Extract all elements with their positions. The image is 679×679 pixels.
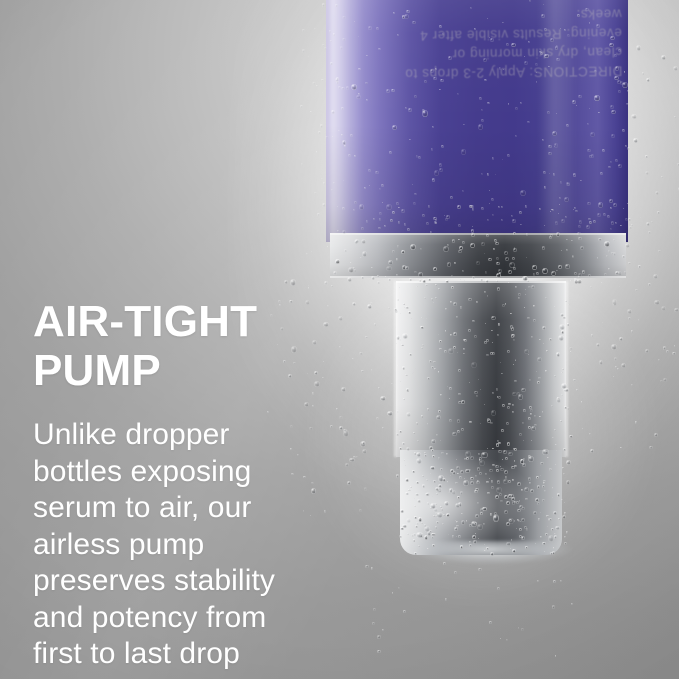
water-droplet (638, 265, 640, 268)
water-droplet (449, 398, 450, 399)
water-droplet (560, 580, 562, 582)
water-droplet (409, 353, 412, 356)
water-droplet (393, 12, 395, 14)
water-droplet (588, 218, 591, 221)
water-droplet (610, 228, 612, 230)
water-droplet (546, 515, 549, 517)
water-droplet (324, 281, 328, 285)
water-droplet (373, 608, 376, 611)
water-droplet (511, 334, 514, 338)
water-droplet (485, 271, 487, 273)
water-droplet (597, 213, 601, 217)
water-droplet (610, 161, 612, 163)
water-droplet (608, 166, 611, 169)
water-droplet (361, 276, 364, 279)
water-droplet (481, 109, 483, 111)
water-droplet (420, 326, 423, 329)
water-droplet (424, 526, 430, 532)
water-droplet (527, 280, 529, 282)
water-droplet (489, 469, 493, 472)
water-droplet (573, 173, 576, 176)
water-droplet (544, 225, 545, 226)
water-droplet (396, 258, 398, 260)
water-droplet (354, 155, 356, 157)
water-droplet (433, 302, 434, 303)
water-droplet (336, 408, 338, 410)
water-droplet (544, 54, 548, 58)
water-droplet (444, 501, 449, 506)
water-droplet (611, 221, 614, 225)
water-droplet (335, 78, 339, 82)
water-droplet (534, 415, 536, 417)
water-droplet (555, 655, 556, 656)
water-droplet (432, 178, 435, 181)
water-droplet (366, 220, 368, 222)
water-droplet (564, 512, 567, 515)
water-droplet (314, 371, 318, 375)
water-droplet (322, 3, 326, 6)
water-droplet (562, 316, 566, 320)
water-droplet (396, 433, 399, 436)
water-droplet (457, 205, 461, 209)
water-droplet (478, 453, 480, 455)
water-droplet (323, 322, 328, 327)
water-droplet (507, 350, 510, 353)
water-droplet (513, 248, 517, 252)
water-droplet (407, 533, 409, 535)
water-droplet (416, 532, 422, 538)
water-droplet (405, 306, 408, 310)
water-droplet (558, 213, 559, 214)
water-droplet (487, 173, 490, 176)
water-droplet (604, 273, 607, 276)
water-droplet (497, 587, 500, 590)
water-droplet (384, 225, 386, 227)
water-droplet (631, 114, 637, 120)
water-droplet (505, 303, 506, 304)
water-droplet (451, 275, 453, 277)
water-droplet (611, 110, 616, 115)
water-droplet (504, 495, 508, 499)
water-droplet (613, 304, 614, 306)
water-droplet (388, 278, 391, 281)
water-droplet (483, 58, 487, 62)
water-droplet (510, 325, 513, 328)
water-droplet (430, 466, 434, 471)
water-droplet (526, 257, 527, 258)
water-droplet (461, 400, 464, 404)
water-droplet (450, 334, 452, 336)
water-droplet (419, 279, 421, 282)
water-droplet (614, 76, 619, 81)
water-droplet (457, 93, 459, 95)
water-droplet (591, 334, 594, 336)
water-droplet (331, 110, 335, 114)
water-droplet (412, 184, 413, 185)
water-droplet (562, 368, 564, 370)
water-droplet (578, 237, 581, 241)
water-droplet (468, 298, 472, 302)
water-droplet (405, 478, 409, 482)
water-droplet (519, 505, 524, 509)
water-droplet (613, 239, 615, 241)
water-droplet (563, 448, 566, 451)
water-droplet (472, 276, 475, 279)
water-droplet (618, 49, 621, 52)
water-droplet (539, 416, 540, 417)
water-droplet (553, 547, 554, 548)
water-droplet (459, 476, 462, 479)
water-droplet (345, 463, 349, 466)
water-droplet (543, 480, 545, 482)
water-droplet (470, 481, 474, 485)
water-droplet (537, 357, 541, 362)
water-droplet (486, 547, 489, 550)
water-droplet (424, 454, 427, 457)
water-droplet (428, 278, 431, 281)
water-droplet (649, 446, 652, 449)
water-droplet (387, 411, 393, 416)
water-droplet (517, 509, 521, 513)
water-droplet (344, 145, 346, 146)
water-droplet (473, 540, 476, 543)
water-droplet (622, 82, 628, 88)
water-droplet (552, 497, 553, 498)
water-droplet (537, 485, 541, 489)
water-droplet (417, 499, 421, 503)
water-droplet (343, 430, 349, 437)
water-droplet (427, 536, 428, 537)
water-droplet (552, 487, 553, 488)
water-droplet (500, 500, 503, 502)
water-droplet (439, 348, 442, 350)
water-droplet (412, 21, 416, 25)
water-droplet (633, 138, 638, 143)
water-droplet (342, 38, 346, 42)
water-droplet (397, 365, 399, 367)
water-droplet (365, 565, 369, 569)
water-droplet (471, 362, 477, 368)
water-droplet (332, 136, 334, 137)
water-droplet (368, 26, 371, 30)
water-droplet (382, 629, 384, 631)
water-droplet (452, 535, 454, 537)
water-droplet (498, 450, 502, 454)
water-droplet (314, 381, 320, 387)
water-droplet (496, 262, 500, 266)
water-droplet (566, 462, 568, 464)
water-droplet (515, 107, 518, 110)
water-droplet (476, 301, 478, 303)
water-droplet (495, 174, 496, 175)
water-droplet (408, 311, 411, 314)
water-droplet (507, 442, 510, 446)
water-droplet (475, 514, 479, 518)
water-droplet (375, 171, 379, 175)
water-droplet (490, 513, 493, 516)
water-droplet (443, 562, 446, 565)
water-droplet (589, 433, 591, 435)
water-droplet (327, 305, 329, 307)
water-droplet (399, 287, 400, 288)
water-droplet (414, 271, 416, 273)
water-droplet (526, 528, 528, 530)
water-droplet (424, 297, 426, 299)
water-droplet (646, 78, 650, 83)
water-droplet (470, 456, 474, 460)
water-droplet (401, 209, 405, 212)
water-droplet (426, 492, 430, 496)
water-droplet (631, 384, 633, 386)
water-droplet (456, 536, 457, 537)
water-droplet (509, 262, 515, 268)
water-droplet (519, 211, 522, 214)
water-droplet (372, 622, 375, 625)
water-droplet (523, 409, 525, 412)
water-droplet (347, 481, 351, 485)
water-droplet (522, 422, 524, 424)
water-droplet (402, 366, 405, 369)
water-droplet (562, 515, 567, 520)
water-droplet (448, 348, 454, 355)
water-droplet (402, 442, 405, 445)
water-droplet (400, 313, 401, 314)
water-droplet (621, 363, 626, 368)
water-droplet (325, 136, 328, 139)
water-droplet (501, 219, 503, 221)
water-droplet (646, 222, 650, 226)
water-droplet (399, 338, 401, 340)
water-droplet (389, 151, 392, 154)
water-droplet (497, 480, 501, 484)
water-droplet (531, 336, 533, 338)
water-droplet (518, 520, 520, 522)
water-droplet (441, 508, 444, 511)
water-droplet (506, 43, 509, 46)
water-droplet (471, 402, 472, 403)
water-droplet (587, 149, 591, 152)
water-droplet (499, 67, 501, 70)
water-droplet (366, 55, 368, 57)
water-droplet (361, 227, 364, 230)
water-droplet (440, 440, 441, 441)
water-droplet (341, 387, 345, 392)
water-droplet (508, 452, 513, 457)
water-droplet (474, 335, 477, 338)
water-droplet (566, 124, 569, 126)
water-droplet (549, 468, 552, 471)
water-droplet (330, 40, 332, 42)
water-droplet (446, 453, 448, 455)
water-droplet (520, 190, 526, 196)
water-droplet (342, 207, 345, 210)
water-droplet (412, 470, 415, 473)
water-droplet (549, 518, 551, 520)
water-droplet (453, 332, 457, 336)
water-droplet (512, 404, 514, 406)
water-droplet (624, 71, 625, 73)
water-droplet (674, 308, 678, 312)
water-droplet (433, 267, 437, 271)
water-droplet (485, 323, 486, 324)
water-droplet (438, 410, 442, 413)
water-droplet (425, 284, 428, 287)
water-droplet (559, 204, 560, 205)
water-droplet (508, 282, 509, 284)
water-droplet (617, 271, 622, 276)
water-droplet (518, 293, 521, 296)
water-droplet (430, 503, 436, 508)
water-droplet (545, 370, 546, 371)
water-droplet (451, 490, 456, 495)
water-droplet (661, 176, 663, 178)
water-droplet (442, 33, 444, 35)
water-droplet (505, 257, 509, 261)
water-droplet (344, 249, 347, 252)
water-droplet (458, 535, 461, 538)
water-droplet (530, 413, 532, 415)
water-droplet (365, 82, 368, 85)
water-droplet (342, 16, 345, 19)
water-droplet (497, 440, 499, 442)
water-droplet (627, 309, 633, 314)
water-droplet (654, 433, 658, 437)
water-droplet (661, 55, 666, 60)
water-droplet (399, 447, 402, 450)
water-droplet (456, 459, 457, 460)
water-droplet (426, 479, 427, 481)
page-title: AIR-TIGHT PUMP (33, 297, 301, 395)
water-droplet (590, 132, 595, 137)
water-droplet (524, 307, 525, 308)
water-droplet (338, 316, 343, 321)
water-droplet (416, 481, 420, 485)
water-droplet (620, 225, 621, 226)
water-droplet (627, 90, 629, 92)
water-droplet (379, 212, 382, 215)
water-droplet (342, 140, 346, 144)
water-droplet (582, 270, 585, 274)
water-droplet (540, 536, 542, 538)
water-droplet (512, 411, 514, 413)
water-droplet (542, 485, 545, 488)
water-droplet (561, 330, 564, 333)
water-droplet (454, 262, 456, 264)
water-droplet (477, 467, 481, 471)
water-droplet (545, 533, 548, 536)
water-droplet (609, 43, 614, 47)
water-droplet (460, 306, 463, 309)
water-droplet (506, 501, 510, 505)
water-droplet (604, 241, 610, 247)
water-droplet (529, 482, 532, 484)
water-droplet (382, 427, 385, 430)
product-feature-image: DIRECTIONS: Apply 2-3 drops to clean, dr… (0, 0, 679, 679)
water-droplet (500, 468, 504, 472)
water-droplet (658, 250, 661, 253)
water-droplet (563, 473, 565, 475)
water-droplet (648, 231, 651, 234)
water-droplet (628, 317, 631, 320)
water-droplet (523, 440, 525, 441)
water-droplet (405, 465, 406, 466)
water-droplet (461, 520, 465, 525)
water-droplet (565, 264, 569, 269)
pump-stem (396, 281, 566, 457)
water-droplet (522, 463, 526, 467)
water-droplet (460, 470, 464, 474)
water-droplet (377, 650, 381, 653)
water-droplet (542, 326, 546, 330)
water-droplet (538, 377, 540, 379)
water-droplet (407, 390, 409, 392)
water-droplet (558, 265, 562, 268)
water-droplet (309, 427, 313, 431)
water-droplet (511, 497, 515, 501)
water-droplet (377, 281, 380, 284)
water-droplet (377, 635, 381, 638)
water-droplet (419, 517, 421, 519)
water-droplet (474, 28, 476, 30)
water-droplet (622, 129, 625, 132)
water-droplet (569, 347, 572, 350)
water-droplet (491, 198, 494, 201)
water-droplet (349, 458, 354, 463)
stem-shading (396, 281, 566, 457)
water-droplet (626, 103, 629, 105)
water-droplet (527, 317, 530, 320)
water-droplet (441, 145, 444, 147)
water-droplet (490, 38, 494, 42)
water-droplet (617, 80, 621, 84)
water-droplet (611, 252, 613, 254)
water-droplet (528, 286, 530, 288)
water-droplet (492, 342, 493, 343)
water-droplet (542, 449, 548, 456)
water-droplet (432, 126, 434, 128)
water-droplet (492, 352, 495, 355)
water-droplet (335, 259, 340, 264)
water-droplet (436, 493, 438, 495)
water-droplet (537, 580, 539, 582)
water-droplet (460, 279, 461, 280)
water-droplet (619, 337, 623, 341)
water-droplet (316, 151, 318, 153)
water-droplet (320, 124, 323, 127)
water-droplet (599, 360, 603, 365)
water-droplet (348, 154, 351, 156)
water-droplet (480, 508, 483, 512)
water-droplet (392, 250, 395, 253)
water-droplet (615, 66, 619, 71)
water-droplet (461, 149, 467, 154)
water-droplet (619, 286, 620, 287)
water-droplet (556, 397, 561, 403)
water-droplet (585, 8, 589, 11)
water-droplet (559, 324, 565, 330)
water-droplet (589, 221, 592, 224)
water-droplet (356, 456, 358, 458)
water-droplet (496, 273, 501, 278)
water-droplet (545, 297, 547, 299)
water-droplet (364, 487, 367, 491)
water-droplet (544, 28, 547, 31)
water-droplet (433, 77, 436, 81)
water-droplet (481, 242, 485, 246)
water-droplet (335, 4, 338, 7)
water-droplet (422, 110, 428, 116)
water-droplet (533, 511, 537, 515)
